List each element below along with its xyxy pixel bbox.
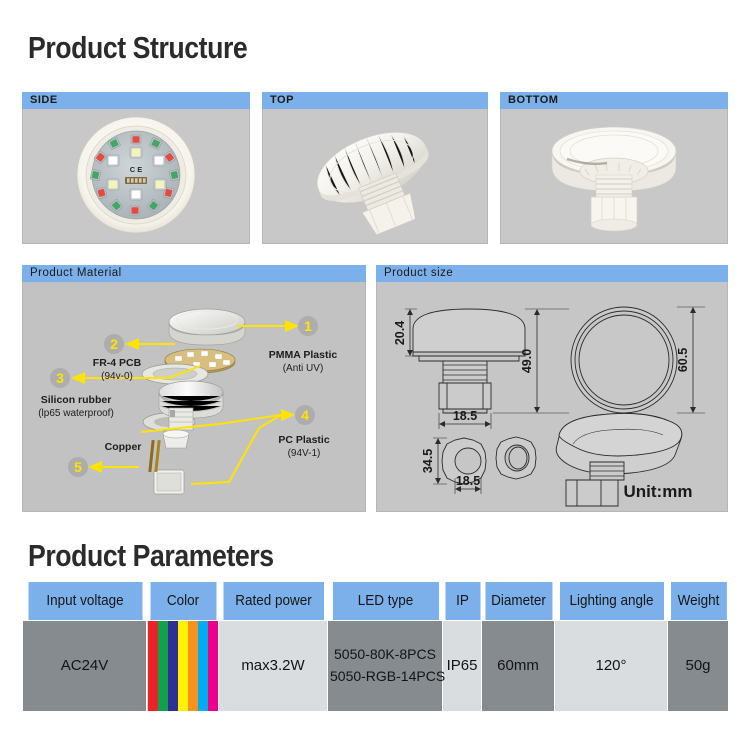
panel-top-image	[262, 109, 488, 244]
column-header-weight: Weight	[670, 582, 727, 621]
cell-color	[147, 621, 219, 712]
color-swatch	[198, 621, 208, 711]
value-ip: IP65	[445, 654, 479, 677]
callout-label-3-line1: Silicon rubber	[41, 394, 112, 406]
callout-label-4-line2: (94V-1)	[288, 448, 321, 459]
panel-side: SIDE	[22, 92, 250, 244]
dimension-label-height-dome: 20.4	[393, 321, 407, 345]
product-spec-sheet: Product Structure SIDE	[0, 0, 750, 750]
product-size-drawing: 20.4 49.0 18.5 34.5 18.5 60.5 Unit:mm	[376, 282, 728, 512]
table-row: AC24V max3.2W 5050-80K-8PCS 5050-RGB-14P…	[23, 621, 729, 712]
led-pcb-front-photo: C E	[23, 109, 249, 242]
dimension-label-thread-width: 18.5	[453, 409, 477, 423]
panel-bottom: BOTTOM	[500, 92, 728, 244]
cell-diameter: 60mm	[482, 621, 555, 712]
color-swatch-strip	[147, 621, 218, 711]
dimension-label-outer-diameter: 60.5	[676, 348, 690, 372]
callout-number-1: 1	[304, 318, 312, 334]
color-swatch	[168, 621, 178, 711]
cell-lighting-angle: 120°	[555, 621, 668, 712]
page-title-product-parameters: Product Parameters	[28, 538, 274, 574]
product-material-diagram: 1 2 3 4 5 PMMA Plastic (Anti UV) FR-4 PC…	[22, 282, 366, 512]
value-input-voltage: AC24V	[25, 654, 144, 677]
cell-rated-power: max3.2W	[219, 621, 328, 712]
value-lighting-angle: 120°	[557, 654, 665, 677]
panel-side-header: SIDE	[22, 92, 250, 109]
svg-text:C E: C E	[130, 165, 143, 174]
panel-product-material-header: Product Material	[22, 265, 366, 282]
panel-product-size: Product size	[376, 265, 728, 512]
value-rated-power: max3.2W	[221, 654, 325, 677]
cell-ip: IP65	[443, 621, 482, 712]
led-module-bottom-photo	[501, 109, 727, 242]
panel-top: TOP	[262, 92, 488, 244]
callout-label-4-line1: PC Plastic	[278, 434, 330, 446]
callout-number-2: 2	[110, 336, 118, 352]
exploded-assembly-diagram: 1 2 3 4 5 PMMA Plastic (Anti UV) FR-4 PC…	[23, 282, 365, 510]
panel-product-material: Product Material	[22, 265, 366, 512]
table-header-row: Input voltage Color Rated power LED type…	[23, 582, 729, 621]
panel-bottom-image	[500, 109, 728, 244]
panel-bottom-header: BOTTOM	[500, 92, 728, 109]
part-pmma-lens	[169, 309, 245, 345]
callout-label-3-line2: (lp65 waterproof)	[38, 408, 114, 419]
callout-number-5: 5	[74, 459, 82, 475]
color-swatch	[208, 621, 218, 711]
column-header-color: Color	[149, 582, 216, 621]
callout-number-3: 3	[56, 370, 64, 386]
column-header-input-voltage: Input voltage	[27, 582, 142, 621]
panel-product-size-header: Product size	[376, 265, 728, 282]
dimension-label-nut-across: 34.5	[421, 449, 435, 473]
column-header-led-type: LED type	[332, 582, 439, 621]
color-swatch	[158, 621, 168, 711]
color-swatch	[148, 621, 158, 711]
unit-note: Unit:mm	[624, 482, 693, 501]
cell-weight: 50g	[668, 621, 729, 712]
column-header-rated-power: Rated power	[222, 582, 323, 621]
led-module-top-photo	[263, 109, 487, 242]
panel-side-image: C E	[22, 109, 250, 244]
dimension-label-total-height: 49.0	[520, 349, 534, 373]
color-swatch	[178, 621, 188, 711]
panel-top-header: TOP	[262, 92, 488, 109]
callout-label-2-line2: (94v-0)	[101, 371, 133, 382]
column-header-diameter: Diameter	[484, 582, 552, 621]
callout-number-4: 4	[301, 407, 309, 423]
callout-label-2-line1: FR-4 PCB	[93, 357, 142, 369]
cell-led-type: 5050-80K-8PCS 5050-RGB-14PCS	[328, 621, 443, 712]
page-title-product-structure: Product Structure	[28, 30, 247, 66]
cell-input-voltage: AC24V	[23, 621, 147, 712]
product-parameters-table: Input voltage Color Rated power LED type…	[22, 581, 729, 712]
callout-label-1-line1: PMMA Plastic	[269, 349, 338, 361]
callout-label-1-line2: (Anti UV)	[283, 363, 324, 374]
dimension-label-nut-width: 18.5	[456, 474, 480, 488]
column-header-lighting-angle: Lighting angle	[558, 582, 663, 621]
value-diameter: 60mm	[484, 654, 552, 677]
column-header-ip: IP	[444, 582, 480, 621]
color-swatch	[188, 621, 198, 711]
dimension-drawing: 20.4 49.0 18.5 34.5 18.5 60.5 Unit:mm	[377, 282, 727, 510]
value-led-type-line2: 5050-RGB-14PCS	[330, 666, 440, 688]
value-led-type-line1: 5050-80K-8PCS	[330, 644, 440, 666]
value-weight: 50g	[670, 654, 726, 677]
callout-label-5-line1: Copper	[105, 441, 142, 453]
